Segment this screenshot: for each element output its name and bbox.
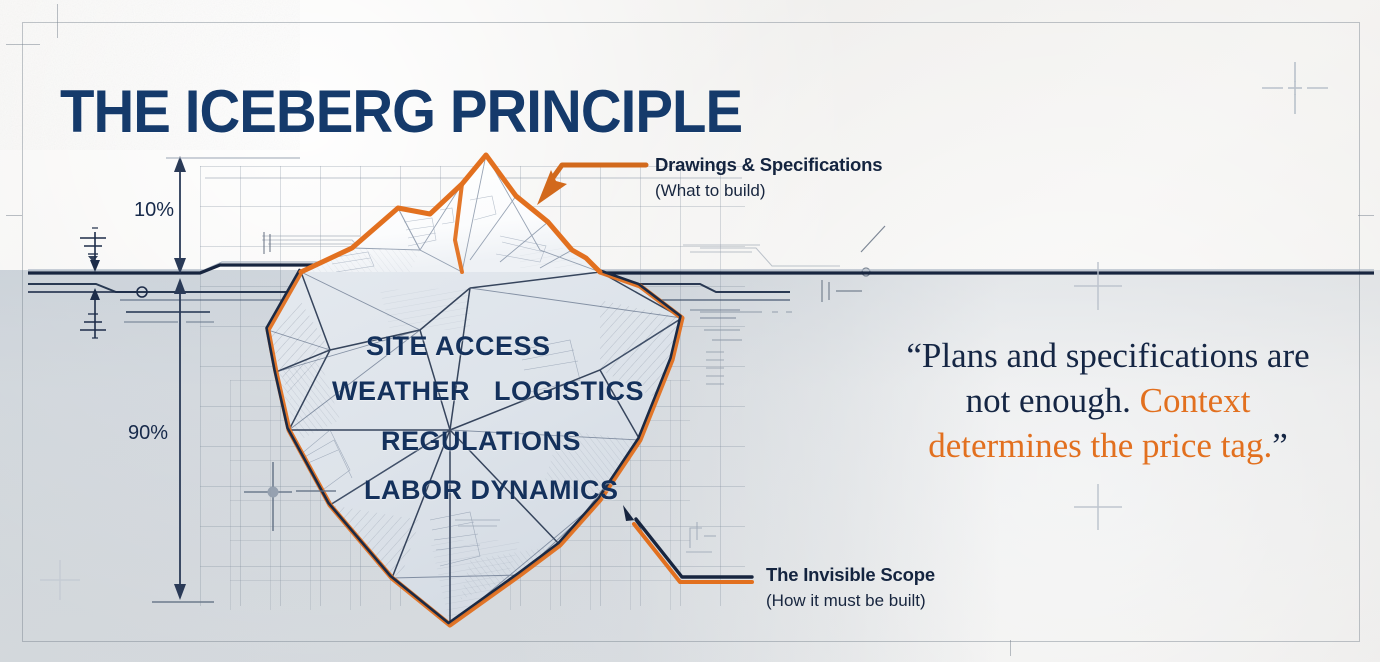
callout-bottom: The Invisible Scope (How it must be buil…	[766, 564, 935, 611]
iceberg-label-regulations: REGULATIONS	[381, 426, 581, 457]
iceberg-label-labor-dynamics: LABOR DYNAMICS	[364, 475, 619, 506]
callout-arrow-bottom	[623, 505, 643, 532]
registration-mark-left	[40, 560, 80, 600]
scale-label-below: 90%	[128, 422, 168, 445]
registration-mark-bottom-right	[1074, 484, 1122, 530]
callout-bottom-subtitle: (How it must be built)	[766, 591, 935, 611]
quote-plain-text: Plans and specifications are not enough.	[922, 336, 1310, 420]
quote-close-mark: ”	[1272, 426, 1288, 465]
infographic-canvas: THE ICEBERG PRINCIPLE 10% 90% Drawings &…	[0, 0, 1380, 662]
scale-label-above: 10%	[134, 199, 174, 222]
iceberg-label-logistics: LOGISTICS	[494, 376, 644, 407]
detail-mark-bottom-center	[686, 522, 716, 552]
pull-quote: “Plans and specifications are not enough…	[893, 333, 1323, 468]
registration-mark-middle	[1074, 262, 1122, 310]
iceberg-label-site-access: SITE ACCESS	[366, 331, 551, 362]
waterline-annotation-above	[80, 228, 106, 272]
waterline-annotation-below	[80, 288, 106, 338]
registration-mark-top-right	[1262, 62, 1328, 114]
waterline	[28, 262, 1374, 322]
callout-leader-bottom-shadow	[634, 524, 752, 582]
quote-open-mark: “	[906, 336, 922, 375]
callout-top-subtitle: (What to build)	[655, 181, 882, 201]
detail-mark-berg-right	[700, 312, 792, 384]
iceberg-label-weather: WEATHER	[332, 376, 470, 407]
callout-top: Drawings & Specifications (What to build…	[655, 154, 882, 201]
callout-bottom-title: The Invisible Scope	[766, 564, 935, 586]
callout-arrow-top	[537, 170, 567, 205]
page-title: THE ICEBERG PRINCIPLE	[60, 81, 742, 143]
callout-top-title: Drawings & Specifications	[655, 154, 882, 176]
callout-leader-top	[552, 165, 646, 179]
dimension-10pct	[166, 156, 300, 274]
